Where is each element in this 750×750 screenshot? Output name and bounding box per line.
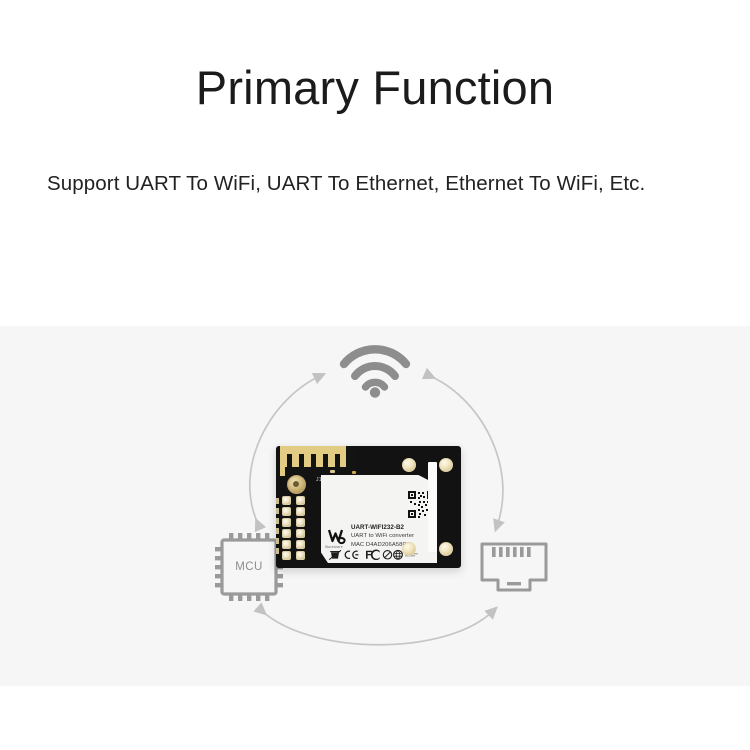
label-text-block: UART-WIFI232-B2 UART to WiFi converter M… bbox=[351, 523, 437, 550]
page-title: Primary Function bbox=[0, 0, 750, 112]
mounting-pad bbox=[402, 458, 416, 472]
mounting-pad bbox=[439, 458, 453, 472]
mounting-pad bbox=[439, 542, 453, 556]
intro-description: Support UART To WiFi, UART To Ethernet, … bbox=[0, 112, 750, 204]
waveshare-logo-icon bbox=[328, 527, 349, 546]
ce-mark bbox=[345, 551, 358, 558]
arrow-mcu-ethernet bbox=[262, 611, 493, 645]
mounting-pad bbox=[402, 542, 416, 556]
ufl-antenna-connector bbox=[287, 475, 306, 494]
pad-grid bbox=[282, 496, 316, 564]
label-line-model: UART-WIFI232-B2 bbox=[351, 523, 437, 532]
wifi-icon bbox=[336, 342, 414, 398]
board-edge-fingers bbox=[276, 498, 279, 562]
module-label: Waveshare UART-WIFI232-B2 UART to WiFi c… bbox=[321, 475, 437, 563]
uart-wifi-module-photo: J1 232 bbox=[276, 446, 461, 568]
weee-icon bbox=[329, 550, 341, 559]
header-section: Primary Function Support UART To WiFi, U… bbox=[0, 0, 750, 204]
board-slot-cutout bbox=[428, 462, 437, 552]
diagram-panel: MCU bbox=[0, 326, 750, 686]
fcc-mark bbox=[366, 550, 380, 560]
smd-component bbox=[352, 471, 356, 474]
page-root: Primary Function Support UART To WiFi, U… bbox=[0, 0, 750, 750]
smd-component bbox=[330, 470, 335, 473]
mcu-chip-icon bbox=[213, 531, 285, 603]
pcb-antenna-trace bbox=[280, 446, 356, 476]
recycle-mark bbox=[394, 550, 403, 559]
ethernet-rj45-icon bbox=[478, 538, 550, 600]
rohs-mark bbox=[383, 551, 391, 559]
diagram-stage: MCU bbox=[0, 326, 750, 686]
label-line-desc: UART to WiFi converter bbox=[351, 532, 437, 541]
